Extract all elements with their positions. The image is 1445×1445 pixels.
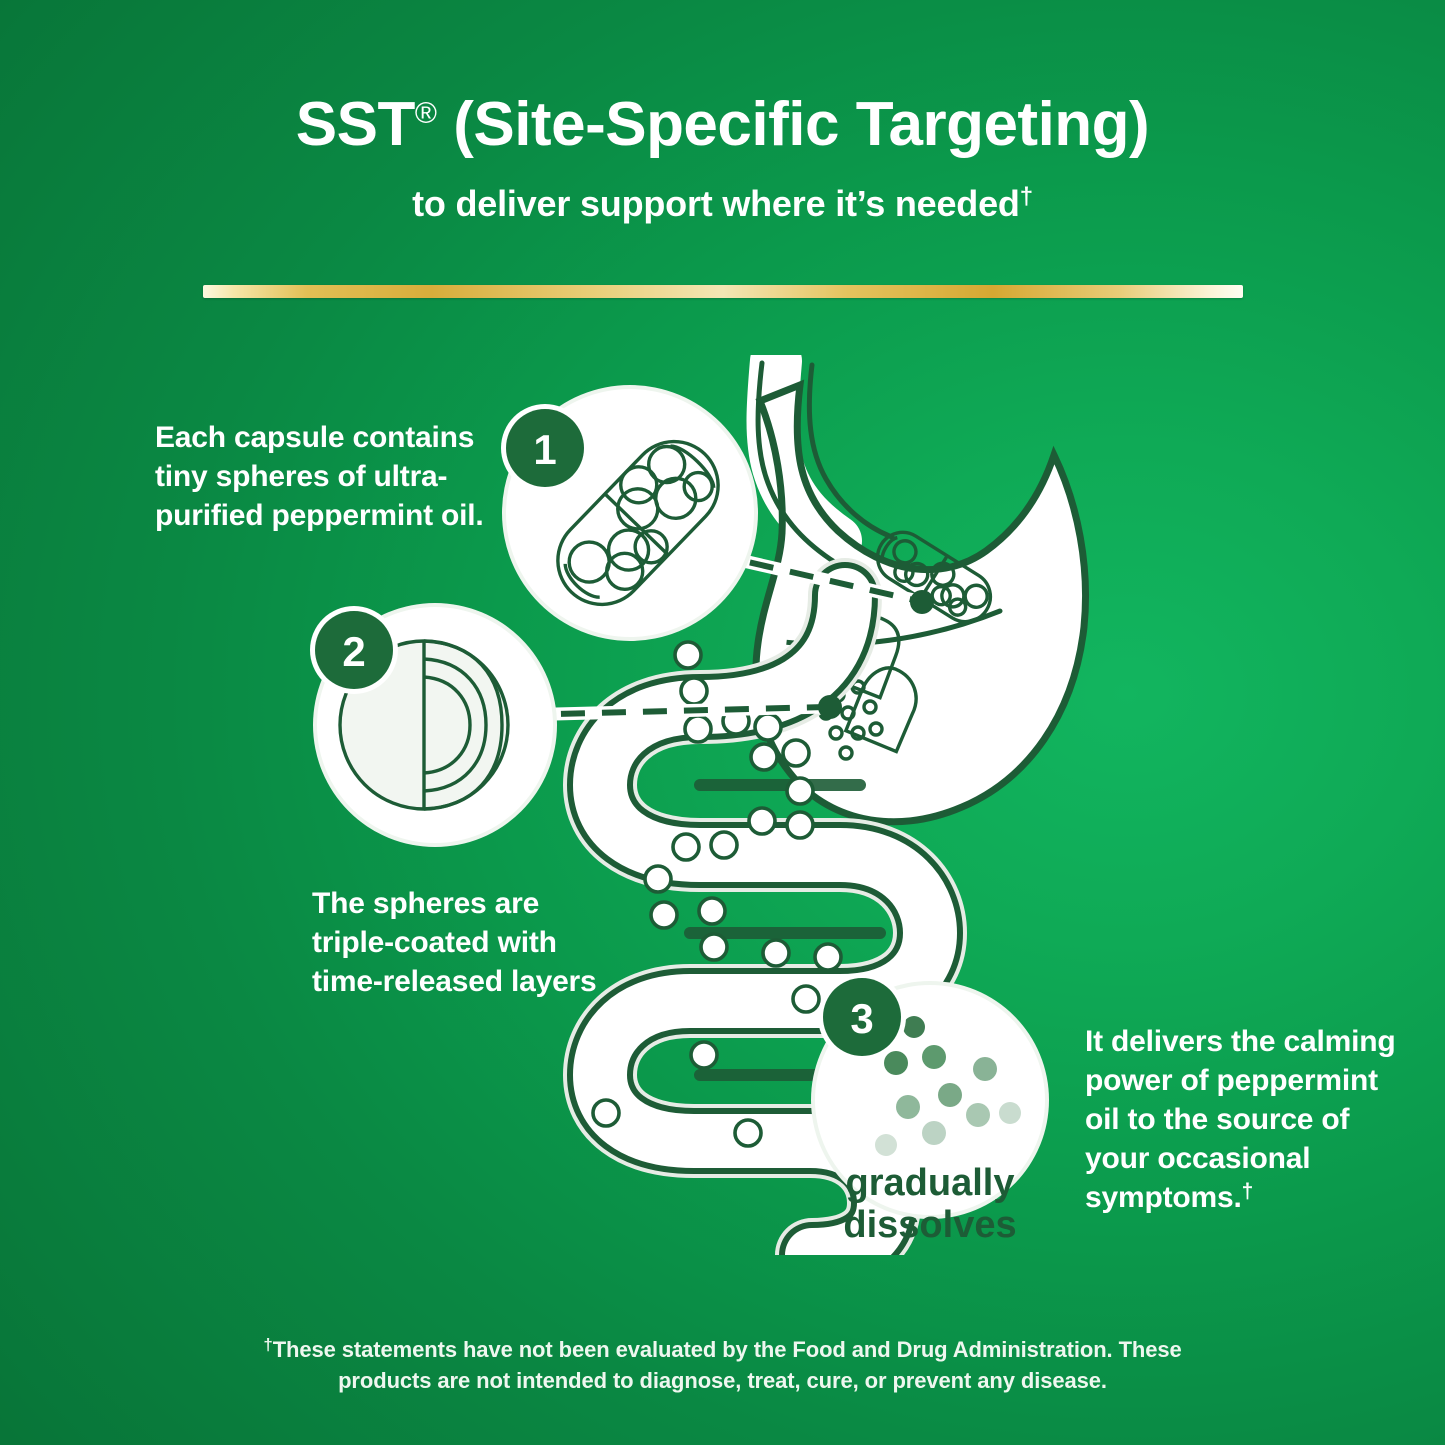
- dagger-icon: †: [263, 1335, 272, 1354]
- dagger-icon: †: [1020, 183, 1033, 210]
- step-3-description: It delivers the calming power of pepperm…: [1085, 1022, 1415, 1217]
- step-2-description: The spheres are triple-coated with time-…: [312, 884, 622, 1001]
- step-1-number: 1: [533, 426, 556, 473]
- step-1-description: Each capsule contains tiny spheres of ul…: [155, 418, 485, 535]
- header: SST® (Site-Specific Targeting) to delive…: [0, 0, 1445, 225]
- step-3-circle: gradually dissolves 3: [811, 973, 1049, 1246]
- title-expansion: (Site-Specific Targeting): [436, 90, 1149, 159]
- disclaimer-line-2: products are not intended to diagnose, t…: [338, 1368, 1107, 1393]
- step-1-circle: 1: [501, 385, 758, 641]
- page-title: SST® (Site-Specific Targeting): [0, 92, 1445, 157]
- fda-disclaimer: †These statements have not been evaluate…: [233, 1333, 1213, 1396]
- dagger-icon: †: [1242, 1180, 1253, 1203]
- step-2-number: 2: [342, 628, 365, 675]
- registered-trademark-symbol: ®: [415, 97, 437, 130]
- leader-endpoint-1: [910, 590, 934, 614]
- gold-divider: [203, 285, 1243, 298]
- step-3-number: 3: [850, 995, 873, 1042]
- page-subtitle: to deliver support where it’s needed†: [0, 183, 1445, 225]
- step-3-caption-line-1: gradually: [846, 1162, 1015, 1204]
- step-2-circle: 2: [310, 603, 557, 847]
- sst-infographic: SST® (Site-Specific Targeting) to delive…: [0, 0, 1445, 1445]
- leader-endpoint-2: [818, 695, 842, 719]
- step-3-caption-line-2: dissolves: [843, 1204, 1016, 1246]
- step-3-description-text: It delivers the calming power of pepperm…: [1085, 1025, 1396, 1214]
- disclaimer-line-1: These statements have not been evaluated…: [273, 1337, 1182, 1362]
- subtitle-text: to deliver support where it’s needed: [412, 183, 1020, 224]
- title-brand: SST: [296, 90, 415, 159]
